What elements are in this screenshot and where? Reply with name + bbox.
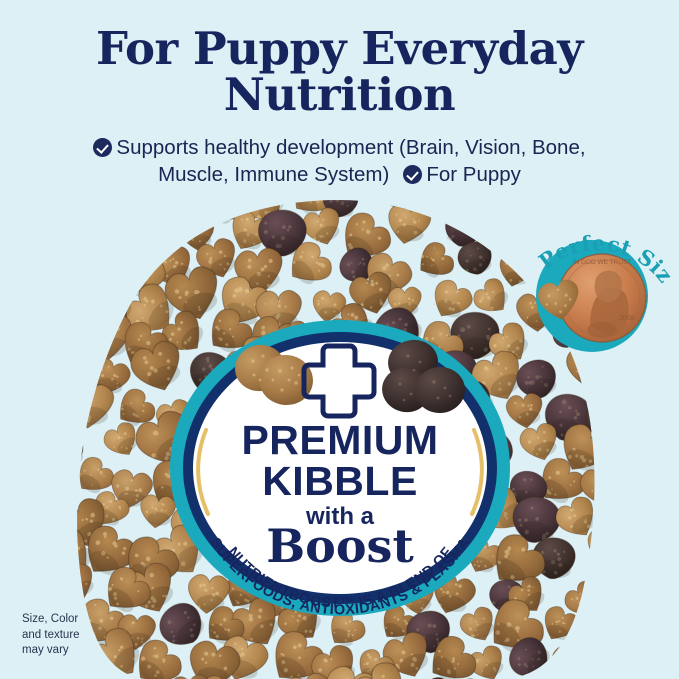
heart-kibble-piece	[40, 388, 88, 436]
seal-boost: Boost	[266, 519, 414, 573]
heart-kibble-piece	[74, 240, 136, 302]
perfect-size-callout: IN GOD WE TRUST 2008 Perfect Size!	[486, 208, 676, 358]
heart-kibble-piece	[411, 238, 458, 285]
seal-title-line-1: PREMIUM	[241, 417, 438, 463]
dark-kibble-piece	[45, 430, 87, 471]
benefit-row-2: Muscle, Immune System)For Puppy	[38, 161, 641, 188]
heart-kibble-piece	[551, 643, 594, 679]
heart-kibble-piece	[577, 667, 625, 679]
heart-kibble-piece	[608, 424, 654, 469]
benefit-list: Supports healthy development (Brain, Vis…	[38, 134, 641, 188]
heart-kibble-piece	[585, 526, 629, 568]
headline-line-2: Nutrition	[0, 72, 679, 118]
disclaimer-line-2: and texture	[22, 628, 80, 644]
premium-kibble-seal: PREMIUM KIBBLE with a Boost NUTRIENTBOOS…	[168, 318, 512, 618]
product-image-canvas: For Puppy Everyday Nutrition Supports he…	[0, 0, 679, 679]
benefit-text-3: For Puppy	[426, 163, 521, 186]
heart-kibble-piece	[100, 206, 150, 256]
disclaimer-line-3: may vary	[22, 643, 80, 659]
benefit-text-2: Muscle, Immune System)	[158, 163, 389, 186]
coin-motto: IN GOD WE TRUST	[573, 259, 632, 266]
check-circle-icon	[403, 165, 422, 184]
heart-kibble-piece	[534, 663, 600, 679]
heart-kibble-piece	[26, 455, 86, 515]
heart-kibble-piece	[586, 644, 646, 679]
heart-kibble-piece	[597, 573, 649, 622]
seal-title-line-2: KIBBLE	[262, 458, 418, 504]
dark-kibble-piece	[45, 323, 87, 365]
heart-kibble-piece	[66, 383, 114, 428]
heart-kibble-piece	[59, 273, 115, 327]
disclaimer-line-1: Size, Color	[22, 612, 80, 628]
heart-kibble-piece	[385, 202, 432, 247]
heart-kibble-piece	[49, 214, 92, 255]
coin-year: 2008	[619, 315, 635, 322]
heart-kibble-piece	[574, 608, 627, 659]
dark-kibble-piece	[602, 491, 663, 551]
page-title: For Puppy Everyday Nutrition	[0, 26, 679, 118]
disclaimer-text: Size, Color and texture may vary	[22, 612, 80, 659]
benefit-row-1: Supports healthy development (Brain, Vis…	[38, 134, 641, 161]
check-circle-icon	[93, 138, 112, 157]
heart-kibble-piece	[31, 231, 98, 299]
benefit-text-1: Supports healthy development (Brain, Vis…	[116, 136, 585, 159]
